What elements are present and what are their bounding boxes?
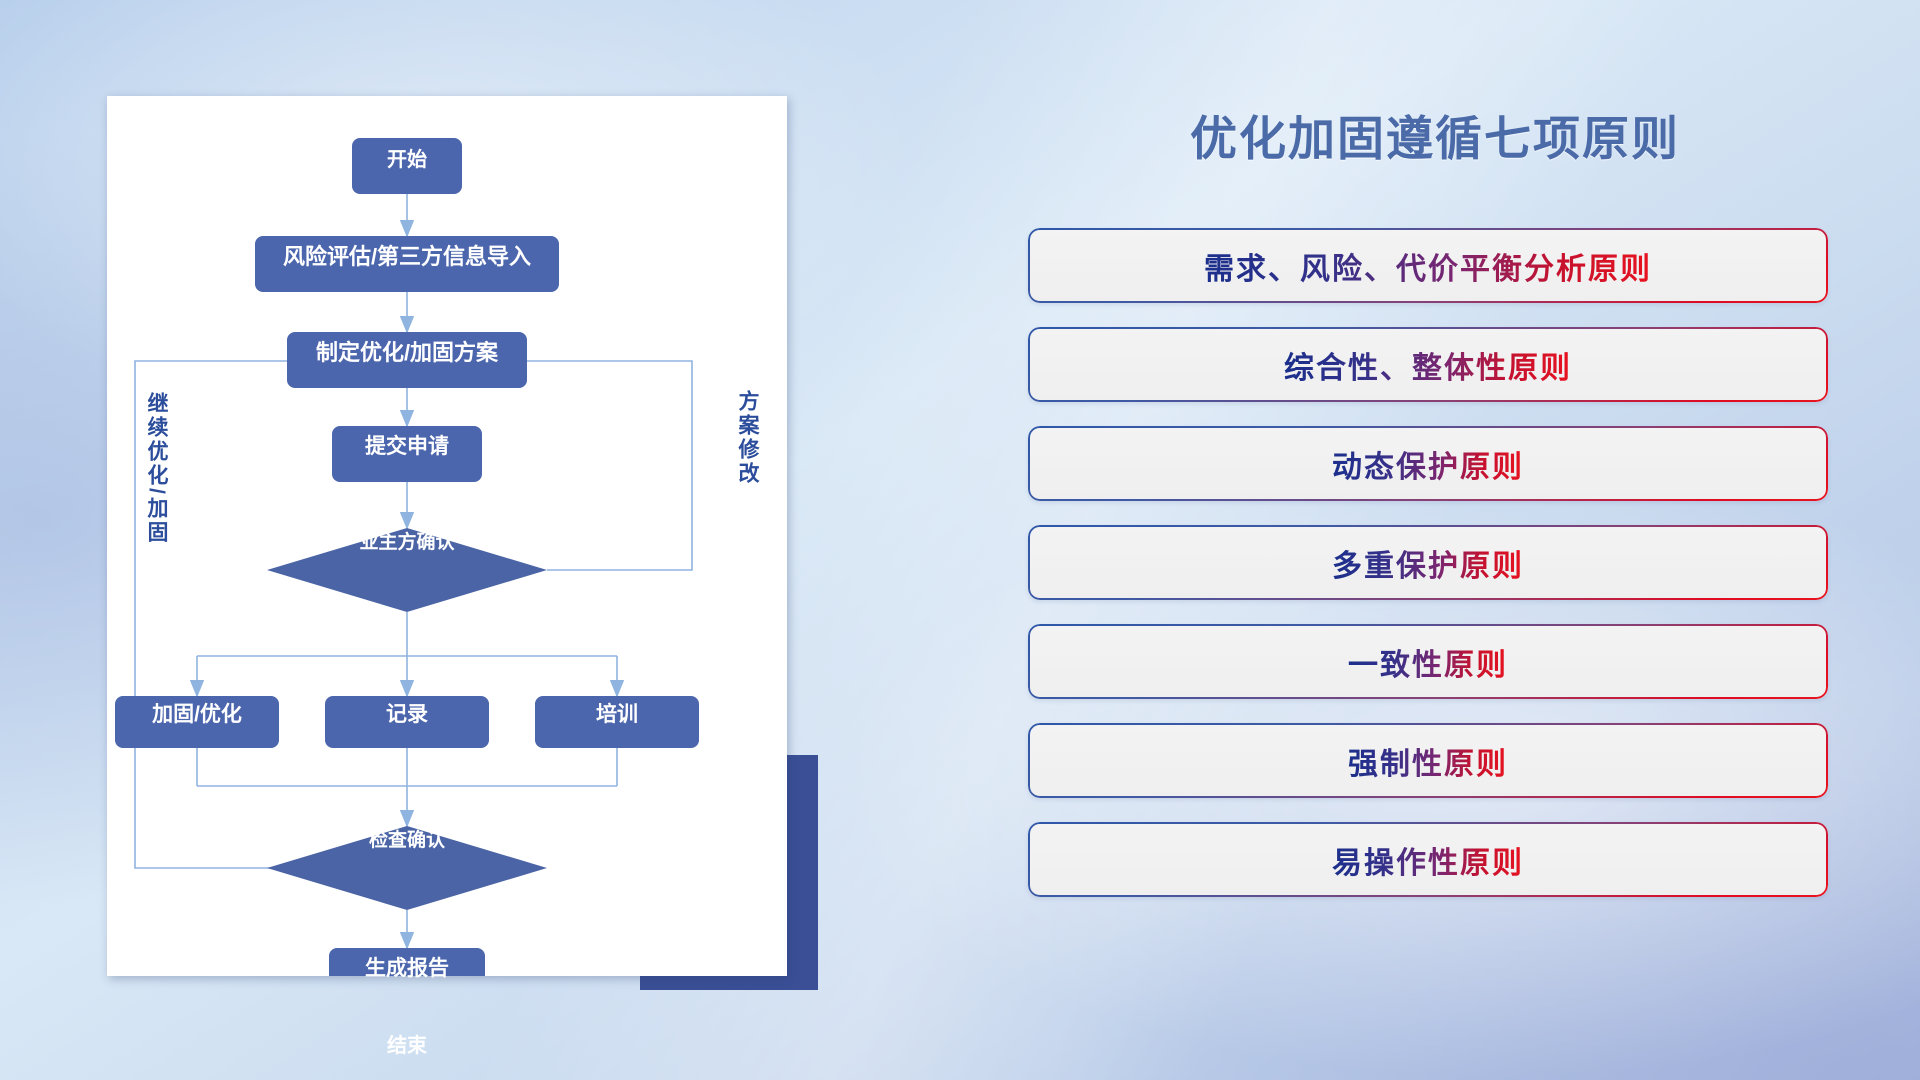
- flow-node-owner: [267, 528, 547, 612]
- flow-node-reinforce: [115, 696, 279, 748]
- principle-card-5[interactable]: 一致性原则: [1028, 624, 1828, 699]
- principle-card-6[interactable]: 强制性原则: [1028, 723, 1828, 798]
- flow-node-train: [535, 696, 699, 748]
- flow-node-plan: [287, 332, 527, 388]
- principle-card-1[interactable]: 需求、风险、代价平衡分析原则: [1028, 228, 1828, 303]
- principle-card-4[interactable]: 多重保护原则: [1028, 525, 1828, 600]
- principles-list: 需求、风险、代价平衡分析原则 综合性、整体性原则 动态保护原则 多重保护原则 一…: [1028, 228, 1828, 921]
- principle-label: 一致性原则: [1348, 640, 1508, 684]
- flow-node-submit: [332, 426, 482, 482]
- principle-label: 易操作性原则: [1332, 838, 1524, 882]
- principle-card-2[interactable]: 综合性、整体性原则: [1028, 327, 1828, 402]
- flow-node-check: [267, 826, 547, 910]
- principle-label: 动态保护原则: [1332, 442, 1524, 486]
- principles-panel: 优化加固遵循七项原则 需求、风险、代价平衡分析原则 综合性、整体性原则 动态保护…: [1010, 80, 1860, 1020]
- flow-node-report: [329, 948, 485, 976]
- flow-node-start: [352, 138, 462, 194]
- flow-side-label-left: 继续优化/加固: [145, 392, 167, 545]
- flow-node-record: [325, 696, 489, 748]
- principle-label: 强制性原则: [1348, 739, 1508, 783]
- principle-label: 需求、风险、代价平衡分析原则: [1204, 244, 1652, 288]
- page-title: 优化加固遵循七项原则: [1010, 100, 1860, 169]
- principle-card-7[interactable]: 易操作性原则: [1028, 822, 1828, 897]
- flowchart-diagram: [107, 96, 787, 976]
- principle-label: 多重保护原则: [1332, 541, 1524, 585]
- flow-node-assess: [255, 236, 559, 292]
- principle-card-3[interactable]: 动态保护原则: [1028, 426, 1828, 501]
- flow-side-label-right: 方案修改: [736, 390, 758, 486]
- principle-label: 综合性、整体性原则: [1284, 343, 1572, 387]
